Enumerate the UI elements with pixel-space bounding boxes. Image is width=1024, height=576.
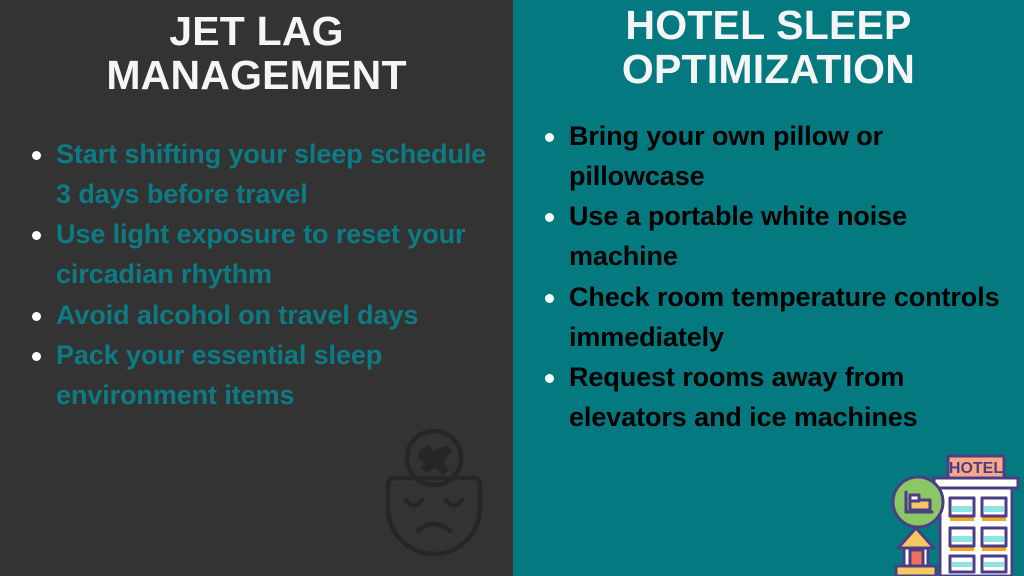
panel-title-jet-lag: JET LAG MANAGEMENT xyxy=(0,0,513,98)
list-item: Bring your own pillow or pillowcase xyxy=(537,116,1010,196)
panel-jet-lag: JET LAG MANAGEMENT Start shifting your s… xyxy=(0,0,513,576)
tired-face-airplane-icon xyxy=(378,428,490,556)
list-item: Use a portable white noise machine xyxy=(537,196,1010,276)
panel-title-hotel-sleep: HOTEL SLEEP OPTIMIZATION xyxy=(513,0,1024,92)
list-item: Pack your essential sleep environment it… xyxy=(24,335,499,415)
list-item: Request rooms away from elevators and ic… xyxy=(537,357,1010,437)
list-item: Avoid alcohol on travel days xyxy=(24,295,499,335)
tips-list-hotel-sleep: Bring your own pillow or pillowcase Use … xyxy=(513,116,1024,438)
hotel-building-icon: HOTEL xyxy=(888,448,1020,576)
list-item: Start shifting your sleep schedule 3 day… xyxy=(24,134,499,214)
list-item: Check room temperature controls immediat… xyxy=(537,277,1010,357)
tips-list-jet-lag: Start shifting your sleep schedule 3 day… xyxy=(0,134,513,416)
two-panel-slide: JET LAG MANAGEMENT Start shifting your s… xyxy=(0,0,1024,576)
panel-hotel-sleep: HOTEL SLEEP OPTIMIZATION Bring your own … xyxy=(513,0,1024,576)
hotel-sign-label: HOTEL xyxy=(949,460,1003,477)
list-item: Use light exposure to reset your circadi… xyxy=(24,214,499,294)
